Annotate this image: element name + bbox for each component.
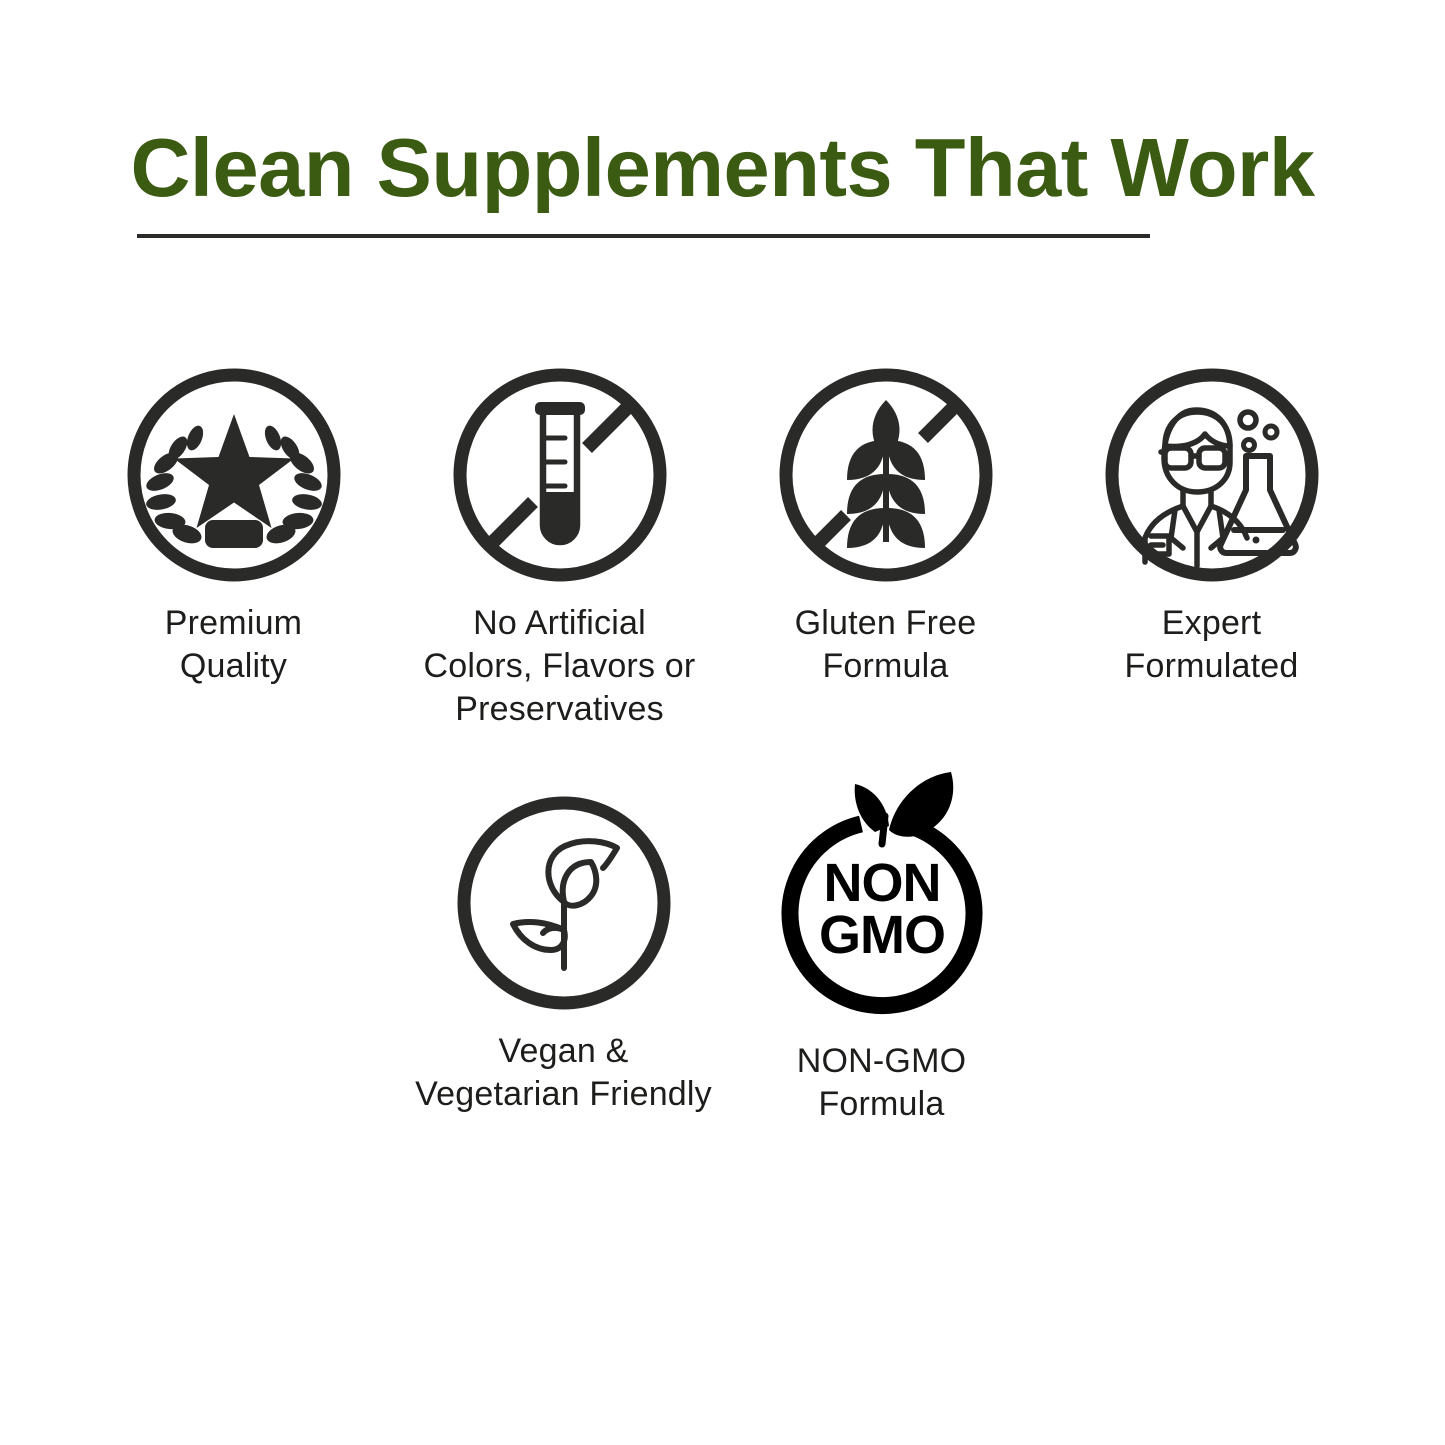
badge-label-line-1: NON-GMO — [737, 1040, 1027, 1083]
badge-premium-quality: Premium Quality — [121, 362, 347, 688]
badge-label: Premium Quality — [89, 602, 379, 688]
feature-badges-page: Clean Supplements That Work — [0, 0, 1445, 1445]
badge-vegan-vegetarian: Vegan & Vegetarian Friendly — [451, 790, 677, 1116]
scientist-flask-icon — [1099, 362, 1325, 588]
title-divider — [137, 234, 1150, 238]
badge-label: Gluten Free Formula — [741, 602, 1031, 688]
badge-gluten-free: Gluten Free Formula — [773, 362, 999, 688]
badge-label-line-3: Preservatives — [385, 688, 735, 731]
badge-row-one: Premium Quality — [0, 362, 1445, 730]
badge-label: No Artificial Colors, Flavors or Preserv… — [385, 602, 735, 730]
no-test-tube-icon — [447, 362, 673, 588]
badge-label-line-2: Colors, Flavors or — [385, 645, 735, 688]
badge-label-line-2: Vegetarian Friendly — [389, 1073, 739, 1116]
badge-no-artificial: No Artificial Colors, Flavors or Preserv… — [447, 362, 673, 730]
badge-label-line-1: Expert — [1067, 602, 1357, 645]
badge-label: Expert Formulated — [1067, 602, 1357, 688]
badge-label-line-1: No Artificial — [385, 602, 735, 645]
page-header: Clean Supplements That Work — [0, 126, 1445, 209]
badge-label-line-2: Quality — [89, 645, 379, 688]
badge-label-line-1: Vegan & — [389, 1030, 739, 1073]
laurel-star-icon — [121, 362, 347, 588]
non-gmo-text-bottom: GMO — [819, 905, 945, 965]
badge-label-line-1: Premium — [89, 602, 379, 645]
non-gmo-apple-icon: NON GMO — [769, 756, 995, 1022]
badge-label-line-2: Formula — [741, 645, 1031, 688]
badge-label-line-2: Formula — [737, 1083, 1027, 1126]
badge-non-gmo: NON GMO NON-GMO Formula — [769, 790, 995, 1126]
non-gmo-text-top: NON — [823, 853, 940, 913]
plant-sprout-icon — [451, 790, 677, 1016]
badge-label: Vegan & Vegetarian Friendly — [389, 1030, 739, 1116]
no-wheat-icon — [773, 362, 999, 588]
page-title: Clean Supplements That Work — [0, 126, 1445, 209]
badge-label: NON-GMO Formula — [737, 1040, 1027, 1126]
badge-label-line-1: Gluten Free — [741, 602, 1031, 645]
badge-expert-formulated: Expert Formulated — [1099, 362, 1325, 688]
badge-row-two: Vegan & Vegetarian Friendly NON GMO NON-… — [0, 790, 1445, 1126]
badge-label-line-2: Formulated — [1067, 645, 1357, 688]
